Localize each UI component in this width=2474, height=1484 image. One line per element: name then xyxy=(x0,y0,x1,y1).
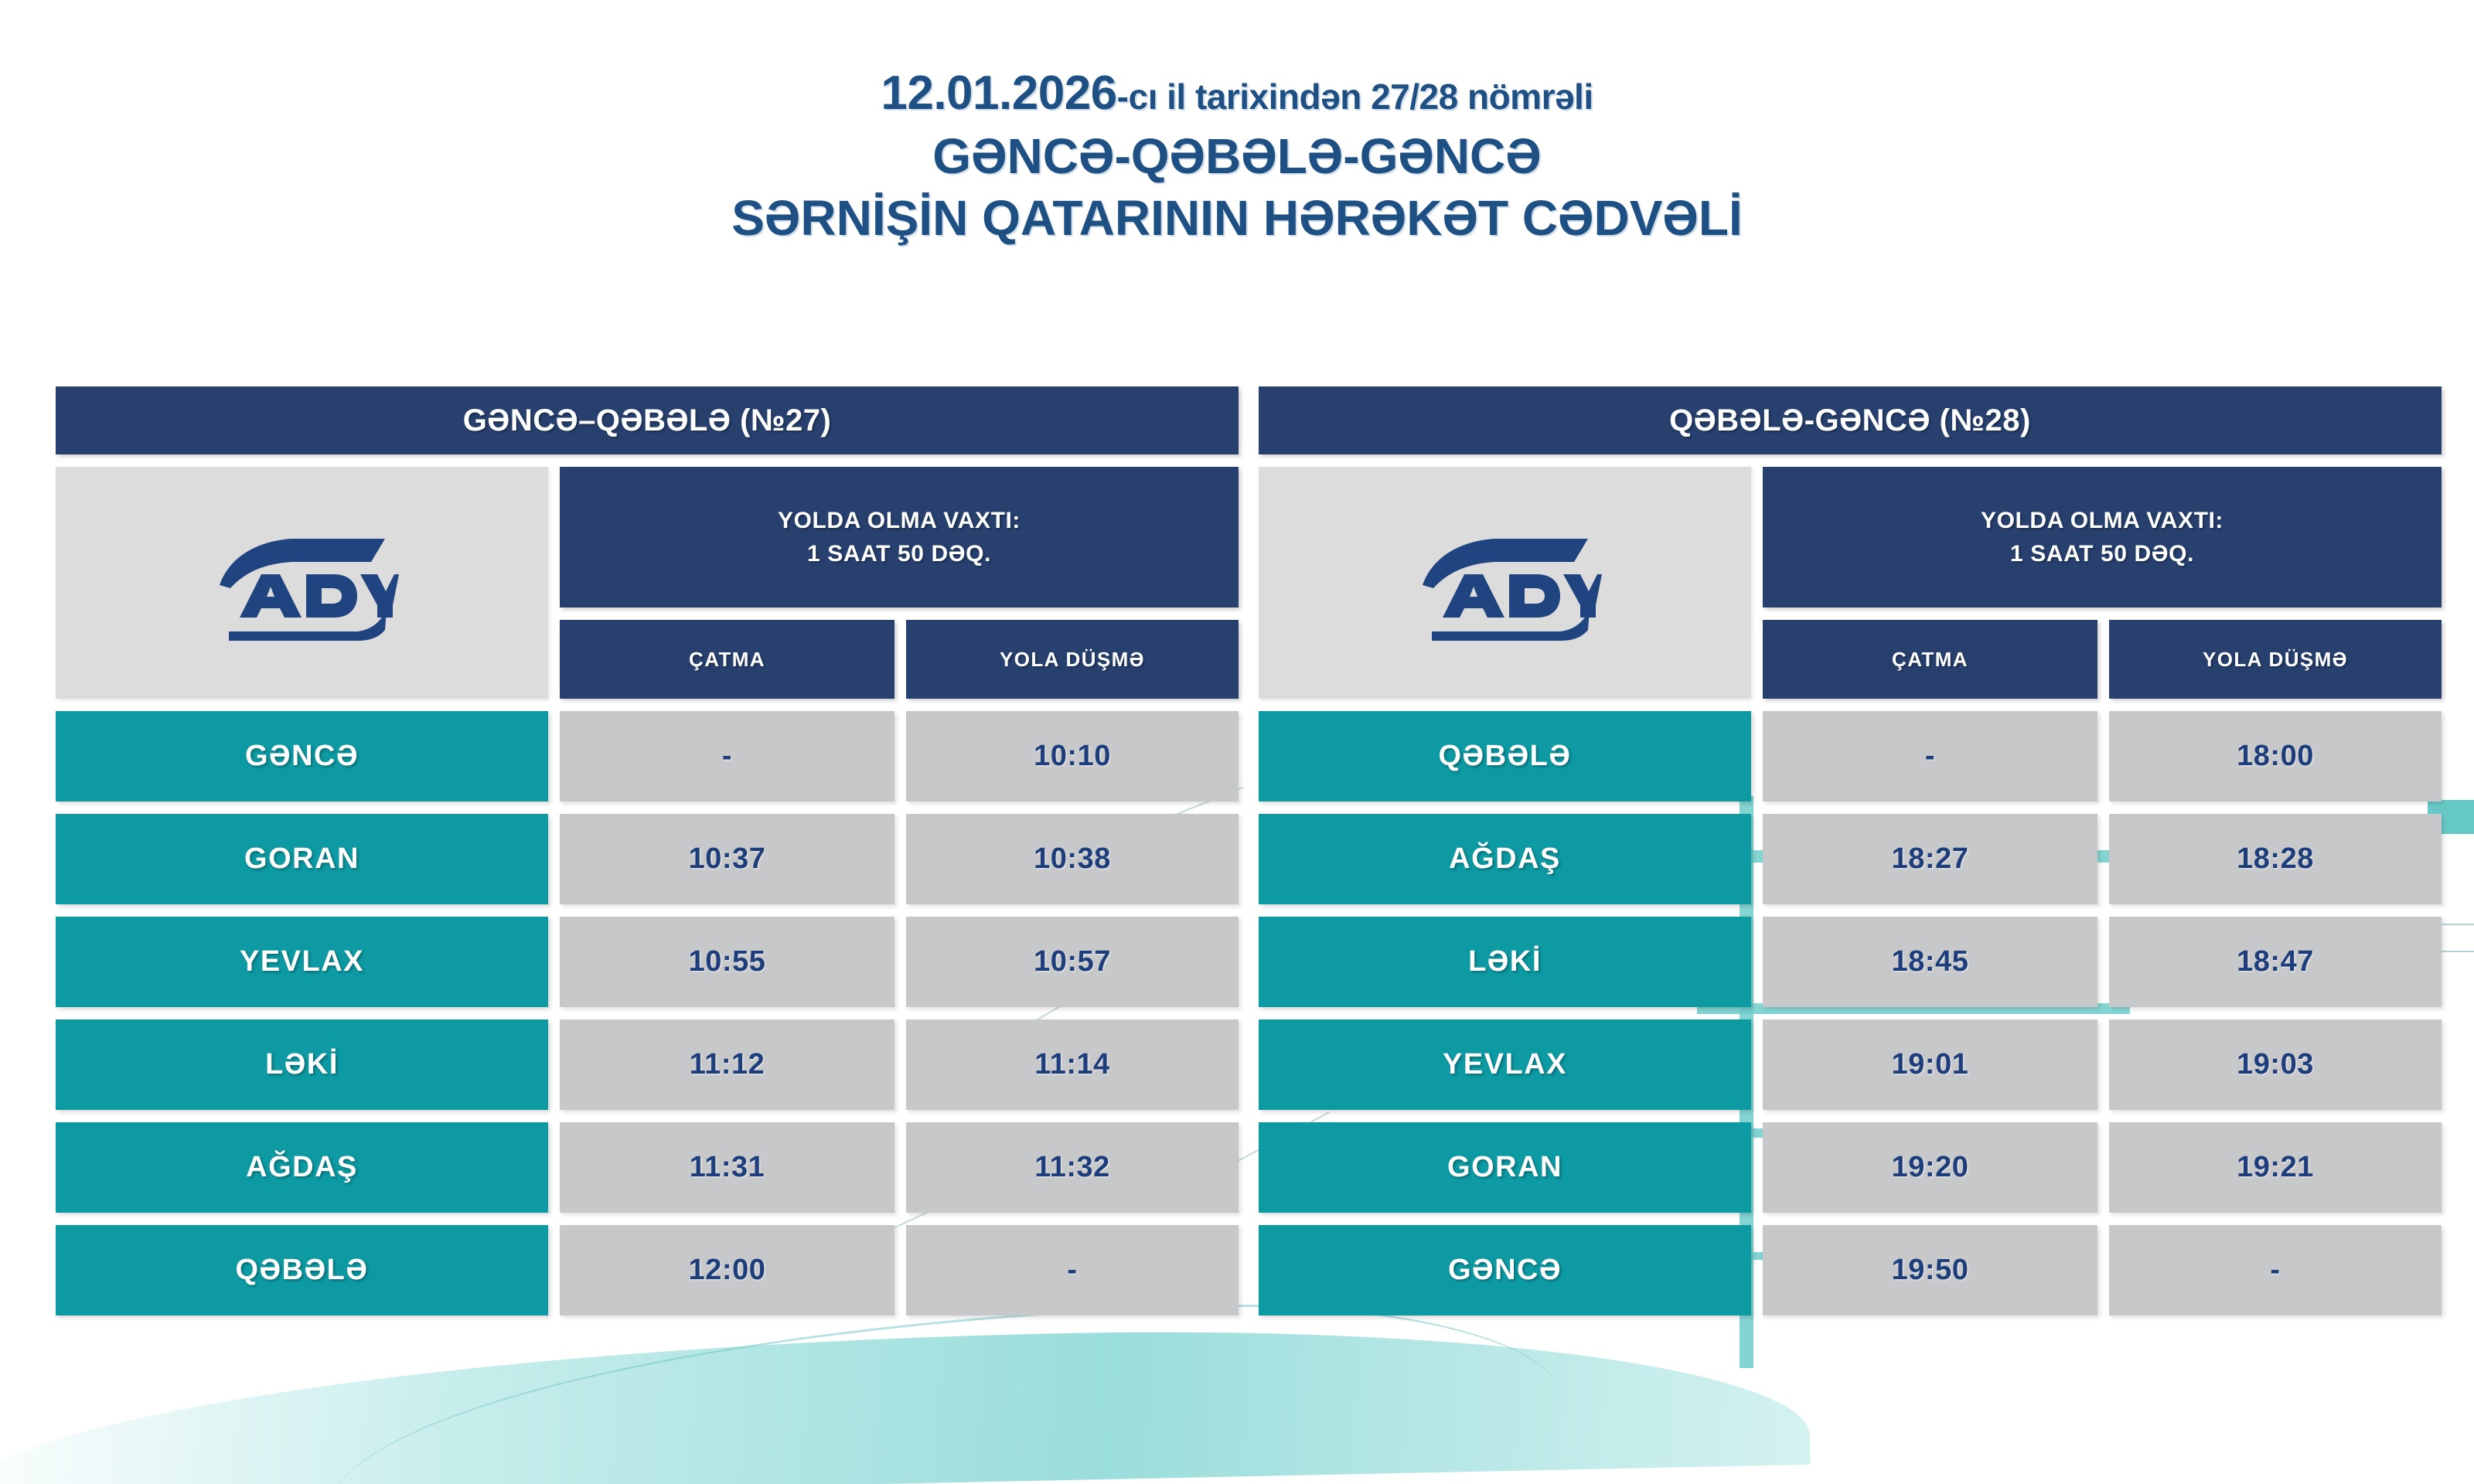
table-row: YEVLAX19:0119:03 xyxy=(1259,1019,2442,1110)
arrival-time-cell: 19:01 xyxy=(1763,1019,2097,1110)
schedule-table-qebele-gence: QƏBƏLƏ-GƏNCƏ (№28) YOLDA OLMA VAXTI: 1 S… xyxy=(1259,386,2442,1316)
table-row: AĞDAŞ11:3111:32 xyxy=(56,1122,1239,1213)
table-row: YEVLAX10:5510:57 xyxy=(56,917,1239,1007)
arrival-time-cell: 19:20 xyxy=(1763,1122,2097,1213)
duration-value-left: 1 SAAT 50 DƏQ. xyxy=(807,537,991,571)
table-row: GORAN10:3710:38 xyxy=(56,814,1239,904)
station-name-cell: GORAN xyxy=(56,814,548,904)
departure-time-cell: - xyxy=(906,1225,1239,1316)
col-header-depart-left: YOLA DÜŞMƏ xyxy=(906,620,1239,699)
table-rows-right: QƏBƏLƏ-18:00AĞDAŞ18:2718:28LƏKİ18:4518:4… xyxy=(1259,711,2442,1316)
departure-time-cell: 18:28 xyxy=(2109,814,2442,904)
station-name-cell: QƏBƏLƏ xyxy=(1259,711,1751,802)
ady-logo-icon xyxy=(1409,525,1602,641)
subheader-right-left-table: YOLDA OLMA VAXTI: 1 SAAT 50 DƏQ. ÇATMA Y… xyxy=(560,467,1239,699)
arrival-time-cell: 19:50 xyxy=(1763,1225,2097,1316)
decorative-swoosh-outline xyxy=(322,1292,1564,1484)
duration-cell-right: YOLDA OLMA VAXTI: 1 SAAT 50 DƏQ. xyxy=(1763,467,2442,608)
title-line-date: 12.01.2026-cı il tarixindən 27/28 nömrəl… xyxy=(0,65,2474,121)
station-name-cell: YEVLAX xyxy=(1259,1019,1751,1110)
table-header-left: GƏNCƏ–QƏBƏLƏ (№27) xyxy=(56,386,1239,454)
arrival-time-cell: 11:31 xyxy=(560,1122,895,1213)
duration-label-right: YOLDA OLMA VAXTI: xyxy=(1981,504,2224,538)
departure-time-cell: 10:10 xyxy=(906,711,1239,802)
table-row: AĞDAŞ18:2718:28 xyxy=(1259,814,2442,904)
station-name-cell: GƏNCƏ xyxy=(56,711,548,802)
table-header-right: QƏBƏLƏ-GƏNCƏ (№28) xyxy=(1259,386,2442,454)
col-header-arrive-right: ÇATMA xyxy=(1763,620,2097,699)
table-row: GƏNCƏ-10:10 xyxy=(56,711,1239,802)
duration-cell-left: YOLDA OLMA VAXTI: 1 SAAT 50 DƏQ. xyxy=(560,467,1239,608)
table-subheader-left: YOLDA OLMA VAXTI: 1 SAAT 50 DƏQ. ÇATMA Y… xyxy=(56,467,1239,699)
departure-time-cell: 18:47 xyxy=(2109,917,2442,1007)
station-name-cell: LƏKİ xyxy=(56,1019,548,1110)
departure-time-cell: 18:00 xyxy=(2109,711,2442,802)
subheader-right-right-table: YOLDA OLMA VAXTI: 1 SAAT 50 DƏQ. ÇATMA Y… xyxy=(1763,467,2442,699)
arrival-time-cell: - xyxy=(1763,711,2097,802)
table-row: GƏNCƏ19:50- xyxy=(1259,1225,2442,1316)
table-subheader-right: YOLDA OLMA VAXTI: 1 SAAT 50 DƏQ. ÇATMA Y… xyxy=(1259,467,2442,699)
infographic-canvas: 12.01.2026-cı il tarixindən 27/28 nömrəl… xyxy=(0,0,2474,1484)
departure-time-cell: 11:14 xyxy=(906,1019,1239,1110)
duration-label-left: YOLDA OLMA VAXTI: xyxy=(778,504,1021,538)
departure-time-cell: 19:03 xyxy=(2109,1019,2442,1110)
decorative-swoosh-bottom xyxy=(0,1318,1811,1484)
departure-time-cell: 11:32 xyxy=(906,1122,1239,1213)
station-name-cell: AĞDAŞ xyxy=(1259,814,1751,904)
arrival-time-cell: 18:45 xyxy=(1763,917,2097,1007)
table-row: LƏKİ18:4518:47 xyxy=(1259,917,2442,1007)
logo-cell-left xyxy=(56,467,548,699)
arrival-time-cell: 10:37 xyxy=(560,814,895,904)
departure-time-cell: 10:38 xyxy=(906,814,1239,904)
col-header-arrive-left: ÇATMA xyxy=(560,620,895,699)
table-row: GORAN19:2019:21 xyxy=(1259,1122,2442,1213)
table-row: LƏKİ11:1211:14 xyxy=(56,1019,1239,1110)
table-row: QƏBƏLƏ12:00- xyxy=(56,1225,1239,1316)
arrival-time-cell: 12:00 xyxy=(560,1225,895,1316)
station-name-cell: LƏKİ xyxy=(1259,917,1751,1007)
duration-value-right: 1 SAAT 50 DƏQ. xyxy=(2010,537,2194,571)
arrival-time-cell: 18:27 xyxy=(1763,814,2097,904)
station-name-cell: YEVLAX xyxy=(56,917,548,1007)
title-date-suffix: -cı il tarixindən 27/28 nömrəli xyxy=(1117,77,1593,117)
station-name-cell: QƏBƏLƏ xyxy=(56,1225,548,1316)
departure-time-cell: - xyxy=(2109,1225,2442,1316)
title-line-subject: SƏRNİŞİN QATARININ HƏRƏKƏT CƏDVƏLİ xyxy=(0,189,2474,248)
departure-time-cell: 19:21 xyxy=(2109,1122,2442,1213)
title-date-value: 12.01.2026 xyxy=(881,66,1116,120)
title-line-route: GƏNCƏ-QƏBƏLƏ-GƏNCƏ xyxy=(0,128,2474,186)
arrival-time-cell: 11:12 xyxy=(560,1019,895,1110)
arrival-time-cell: 10:55 xyxy=(560,917,895,1007)
schedule-table-gence-qebele: GƏNCƏ–QƏBƏLƏ (№27) YOLDA OLMA VAXTI: 1 S… xyxy=(56,386,1239,1316)
station-name-cell: GORAN xyxy=(1259,1122,1751,1213)
page-title: 12.01.2026-cı il tarixindən 27/28 nömrəl… xyxy=(0,65,2474,247)
ady-logo-icon xyxy=(206,525,399,641)
col-header-depart-right: YOLA DÜŞMƏ xyxy=(2109,620,2442,699)
station-name-cell: AĞDAŞ xyxy=(56,1122,548,1213)
column-headers-right: ÇATMA YOLA DÜŞMƏ xyxy=(1763,620,2442,699)
table-rows-left: GƏNCƏ-10:10GORAN10:3710:38YEVLAX10:5510:… xyxy=(56,711,1239,1316)
departure-time-cell: 10:57 xyxy=(906,917,1239,1007)
logo-cell-right xyxy=(1259,467,1751,699)
table-row: QƏBƏLƏ-18:00 xyxy=(1259,711,2442,802)
station-name-cell: GƏNCƏ xyxy=(1259,1225,1751,1316)
arrival-time-cell: - xyxy=(560,711,895,802)
column-headers-left: ÇATMA YOLA DÜŞMƏ xyxy=(560,620,1239,699)
